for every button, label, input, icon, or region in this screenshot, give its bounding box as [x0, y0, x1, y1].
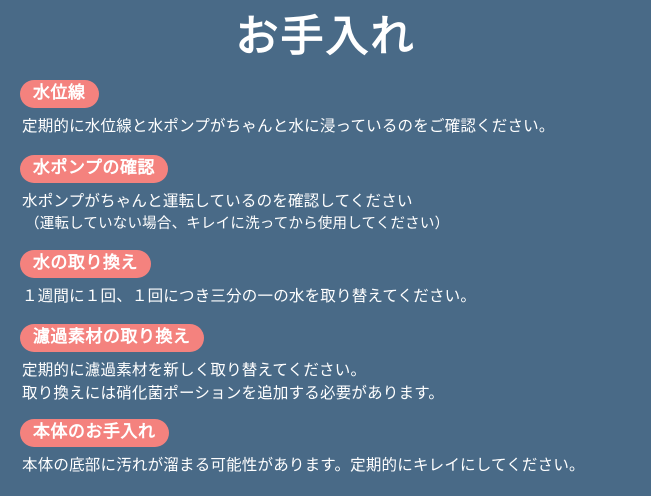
section-badge-water-level: 水位線	[20, 80, 99, 108]
maintenance-instructions-page: お手入れ 水位線 定期的に水位線と水ポンプがちゃんと水に浸っているのをご確認くだ…	[0, 0, 651, 496]
body-line-note: （運転していない場合、キレイに洗ってから使用してください）	[22, 213, 651, 236]
body-line: 水ポンプがちゃんと運転しているのを確認してください	[22, 190, 651, 213]
section-divider-spacer	[0, 308, 651, 324]
section-body-body-cleaning: 本体の底部に汚れが溜まる可能性があります。定期的にキレイにしてください。	[0, 447, 651, 477]
body-line: 取り換えには硝化菌ポーションを追加する必要があります。	[22, 382, 651, 405]
section-body-water-level: 定期的に水位線と水ポンプがちゃんと水に浸っているのをご確認ください。	[0, 108, 651, 138]
badge-row: 水ポンプの確認	[0, 155, 651, 183]
section-pump-check: 水ポンプの確認 水ポンプがちゃんと運転しているのを確認してください （運転してい…	[0, 155, 651, 236]
section-water-level: 水位線 定期的に水位線と水ポンプがちゃんと水に浸っているのをご確認ください。	[0, 80, 651, 138]
section-body-water-change: １週間に１回、１回につき三分の一の水を取り替えてください。	[0, 278, 651, 308]
section-divider-spacer	[0, 405, 651, 419]
section-body-pump-check: 水ポンプがちゃんと運転しているのを確認してください （運転していない場合、キレイ…	[0, 183, 651, 236]
section-badge-water-change: 水の取り換え	[20, 250, 151, 278]
section-badge-pump-check: 水ポンプの確認	[20, 155, 168, 183]
section-badge-filter-media-change: 濾過素材の取り換え	[20, 324, 204, 352]
badge-row: 水の取り換え	[0, 250, 651, 278]
body-line: 本体の底部に汚れが溜まる可能性があります。定期的にキレイにしてください。	[22, 454, 651, 477]
section-badge-body-cleaning: 本体のお手入れ	[20, 419, 169, 447]
body-line: 定期的に濾過素材を新しく取り替えてください。	[22, 359, 651, 382]
section-list: 水位線 定期的に水位線と水ポンプがちゃんと水に浸っているのをご確認ください。 水…	[0, 80, 651, 477]
body-line: １週間に１回、１回につき三分の一の水を取り替えてください。	[22, 285, 651, 308]
section-water-change: 水の取り換え １週間に１回、１回につき三分の一の水を取り替えてください。	[0, 250, 651, 308]
badge-row: 水位線	[0, 80, 651, 108]
section-divider-spacer	[0, 236, 651, 250]
section-filter-media-change: 濾過素材の取り換え 定期的に濾過素材を新しく取り替えてください。 取り換えには硝…	[0, 324, 651, 405]
badge-row: 本体のお手入れ	[0, 419, 651, 447]
section-body-filter-media-change: 定期的に濾過素材を新しく取り替えてください。 取り換えには硝化菌ポーションを追加…	[0, 352, 651, 405]
section-body-cleaning: 本体のお手入れ 本体の底部に汚れが溜まる可能性があります。定期的にキレイにしてく…	[0, 419, 651, 477]
body-line: 定期的に水位線と水ポンプがちゃんと水に浸っているのをご確認ください。	[22, 115, 651, 138]
badge-row: 濾過素材の取り換え	[0, 324, 651, 352]
page-title: お手入れ	[0, 8, 651, 66]
section-divider-spacer	[0, 138, 651, 155]
